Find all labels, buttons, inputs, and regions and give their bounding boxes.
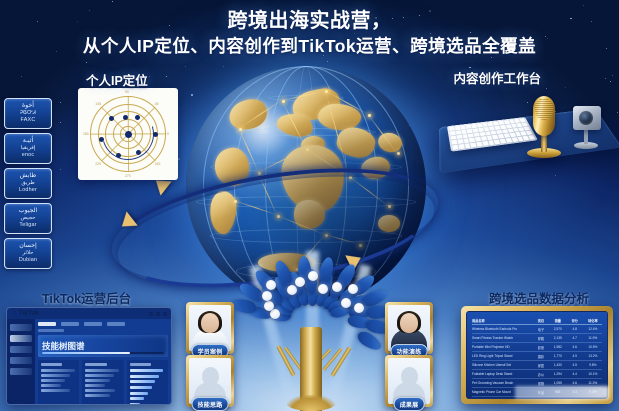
language-badge[interactable]: أخوةᎮᎶᏅᏗFAXC (4, 98, 52, 129)
table-cell: Smart Fitness Tracker Watch (472, 336, 532, 340)
table-cell: 电子 (532, 327, 550, 332)
polar-data-point (116, 153, 121, 158)
card-student-case[interactable]: 学员案例 (186, 302, 234, 354)
row-line (41, 369, 75, 371)
avatar-silhouette-head (202, 367, 219, 386)
tab-1[interactable] (61, 322, 79, 326)
table-cell: Foldable Laptop Desk Stand (472, 372, 532, 376)
table-row[interactable]: Foldable Laptop Desk Stand办公1,2944.410.1… (472, 370, 602, 379)
sidebar-item-1[interactable] (10, 335, 32, 342)
sidebar-item-0[interactable] (10, 324, 32, 331)
poster-canvas: 跨境出海实战营， 从个人IP定位、内容创作到TikTok运营、跨境选品全覆盖 أ… (0, 0, 619, 411)
tiktok-tabs[interactable] (38, 322, 168, 326)
row-line (85, 379, 109, 381)
card-title (130, 363, 151, 366)
column-header: 商品名称 (472, 318, 532, 323)
star (112, 1, 113, 2)
language-badge[interactable]: أثيـةإفريقياenoc (4, 133, 52, 164)
language-badge[interactable]: إحسانحلائرDubian (4, 238, 52, 269)
microphone-grill (535, 98, 553, 120)
camera-stem (584, 130, 588, 144)
language-badge[interactable]: طابشطريقLodher (4, 168, 52, 199)
table-cell: 办公 (532, 372, 550, 377)
polar-axis-label: 270 (125, 174, 131, 178)
globe-network-node (258, 172, 261, 175)
star (149, 76, 150, 77)
sidebar-item-2[interactable] (10, 346, 32, 353)
keyboard-key (458, 144, 464, 149)
tree-fruit (266, 280, 276, 290)
table-cell: 4.4 (566, 372, 584, 376)
tree-fruit (348, 284, 358, 294)
language-badge-line2: ᎮᎶᏅᏗ (20, 110, 36, 117)
tiktok-brand-label: TikTok (18, 310, 39, 317)
table-cell: 11.3% (584, 381, 602, 385)
table-cell: 9.8% (584, 363, 602, 367)
music-note-icon: ♫ (11, 310, 16, 317)
polar-axis-label: 90 (125, 90, 129, 94)
language-badge-line2: حجيص (20, 215, 35, 222)
table-cell: 4.5 (566, 363, 584, 367)
language-badge-line1: أخوة (22, 102, 34, 109)
star (86, 62, 87, 63)
globe-network-node (368, 114, 371, 117)
globe-network-link (239, 100, 283, 130)
globe-landmass (301, 135, 326, 154)
language-badge-line2: طريق (21, 180, 34, 187)
language-badge-line3: enoc (22, 152, 35, 159)
dashboard-card (127, 360, 168, 405)
language-badge-line1: إحسان (19, 242, 37, 249)
table-cell: 4.8 (566, 327, 584, 331)
product-analytics-mockup: 商品名称类目销量评分转化率Wireless Bluetooth Earbuds … (461, 306, 613, 404)
polar-data-point (109, 116, 114, 121)
table-cell: 2,135 (550, 336, 566, 340)
globe-network-node (397, 152, 400, 155)
tree-fruit (295, 277, 305, 287)
tiktok-dashboard-mockup: ♫ TikTok 技能树图谱 (6, 307, 172, 405)
tiktok-banner: 技能树图谱 (38, 335, 168, 357)
globe-network-link (258, 148, 306, 173)
globe-network-node (306, 148, 309, 151)
heading-tiktok-dashboard: TikTok运营后台 (42, 288, 131, 307)
globe-landmass (376, 131, 404, 155)
star (583, 5, 584, 6)
keyboard-key (464, 143, 470, 148)
table-cell: 4.6 (566, 381, 584, 385)
globe-network-node (325, 90, 328, 93)
globe-network-link (238, 129, 258, 173)
star (60, 169, 61, 170)
globe-landmass (289, 85, 342, 123)
sidebar-item-3[interactable] (10, 357, 32, 364)
dashboard-card (38, 360, 79, 405)
keyboard-key (482, 141, 488, 146)
globe-landmass (226, 94, 271, 133)
row-line (85, 374, 114, 376)
table-row[interactable]: Wireless Bluetooth Earbuds Pro电子2,5704.8… (472, 325, 602, 334)
table-row[interactable]: Silicone Kitchen Utensil Set家居1,4304.59.… (472, 361, 602, 370)
table-cell: 2,570 (550, 327, 566, 331)
globe-landmass (317, 103, 362, 133)
language-badge-line1: الجيوب (19, 207, 38, 214)
table-cell: 1,770 (550, 354, 566, 358)
row-line (41, 389, 70, 391)
card-title (41, 363, 62, 366)
table-cell: Wireless Bluetooth Earbuds Pro (472, 327, 532, 331)
globe-network-link (282, 100, 307, 148)
row-line (85, 384, 105, 386)
table-cell: 家居 (532, 363, 550, 368)
polar-data-point (153, 132, 158, 137)
tab-2[interactable] (84, 322, 102, 326)
table-row[interactable]: Portable Mini Projector HD影音1,9824.610.5… (472, 343, 602, 352)
polar-data-point (135, 115, 140, 120)
tiktok-cards (38, 360, 168, 405)
table-cell: 10.5% (584, 345, 602, 349)
tiktok-sidebar[interactable] (7, 319, 35, 404)
table-cell: 1,982 (550, 345, 566, 349)
screen-glare (515, 386, 609, 399)
row-line (41, 384, 61, 386)
polar-axis-label: 180 (83, 132, 89, 136)
tiktok-screen: ♫ TikTok 技能树图谱 (6, 307, 172, 405)
star (178, 108, 179, 109)
card-skill-method[interactable]: 技能思路 (186, 355, 234, 407)
polar-axis-label: 315 (155, 162, 161, 166)
star (617, 112, 618, 113)
table-cell: 穿戴 (532, 336, 550, 341)
tab-0[interactable] (38, 322, 56, 326)
tree-fruit (270, 309, 280, 319)
language-badge-line3: FAXC (21, 117, 36, 124)
row-line (85, 389, 114, 391)
globe-network-link (282, 90, 325, 101)
star (178, 158, 180, 160)
poster-title: 跨境出海实战营， 从个人IP定位、内容创作到TikTok运营、跨境选品全覆盖 (0, 8, 619, 58)
table-cell: 1,055 (550, 381, 566, 385)
tab-3[interactable] (107, 322, 125, 326)
star (21, 76, 22, 77)
dashboard-card (82, 360, 123, 405)
polar-axis-label: 225 (95, 162, 101, 166)
globe-parallel (268, 95, 345, 101)
polar-axis-label: 45 (155, 102, 159, 106)
sidebar-item-4[interactable] (10, 368, 32, 375)
table-cell: 影音 (532, 345, 550, 350)
star (60, 122, 61, 123)
language-badge-line2: إفريقيا (21, 145, 36, 152)
table-cell: Silicone Kitchen Utensil Set (472, 363, 532, 367)
table-row[interactable]: Smart Fitness Tracker Watch穿戴2,1354.711.… (472, 334, 602, 343)
table-cell: Pet Grooming Vacuum Brush (472, 381, 532, 385)
keyboard-key (528, 135, 535, 140)
star (327, 61, 328, 62)
table-cell: 摄影 (532, 354, 550, 359)
heading-content-workbench: 内容创作工作台 (453, 68, 541, 87)
table-cell: 13.2% (584, 354, 602, 358)
column-header: 类目 (532, 318, 550, 323)
globe-network-link (325, 90, 369, 115)
row-line (41, 379, 65, 381)
row-line (85, 369, 119, 371)
tiktok-topbar: ♫ TikTok (7, 308, 171, 319)
heading-product-analytics: 跨境选品数据分析 (489, 288, 589, 307)
table-cell: 10.1% (584, 372, 602, 376)
bar (130, 386, 152, 389)
ip-positioning-chart-card: 90450315270225180135 (78, 88, 178, 180)
table-cell: LED Ring Light Tripod Stand (472, 354, 532, 358)
avatar-silhouette-head (401, 367, 418, 386)
content-workbench-illustration (431, 78, 615, 190)
table-header-row: 商品名称类目销量评分转化率 (472, 316, 602, 325)
bar (130, 397, 144, 400)
polar-data-point (136, 150, 141, 155)
star (60, 102, 61, 103)
table-cell: 11.9% (584, 336, 602, 340)
bar (130, 375, 160, 378)
globe-parallel (236, 128, 375, 136)
tiktok-topbar-icons[interactable] (149, 312, 167, 316)
polar-data-point (123, 115, 128, 120)
table-cell: Portable Mini Projector HD (472, 345, 532, 349)
tiktok-banner-title: 技能树图谱 (42, 340, 85, 352)
table-cell: 12.4% (584, 327, 602, 331)
bar (130, 369, 164, 372)
column-header: 转化率 (584, 318, 602, 323)
tiktok-logo[interactable]: ♫ TikTok (11, 310, 39, 317)
microphone-stem (541, 134, 547, 152)
table-cell: 宠物 (532, 381, 550, 386)
card-feature-drill[interactable]: 功能演练 (385, 302, 433, 354)
globe-landmass (276, 112, 315, 138)
language-badge-line1: أثيـة (23, 137, 33, 144)
language-badge[interactable]: الجيوبحجيصTeligar (4, 203, 52, 234)
avatar-face (400, 313, 418, 333)
globe-landmass (335, 125, 379, 161)
language-badge-line3: Lodher (19, 187, 37, 194)
skill-tree-illustration (236, 258, 386, 411)
breadcrumb (38, 329, 64, 332)
title-line-1: 跨境出海实战营， (0, 8, 619, 34)
row-line (85, 394, 110, 396)
globe-network-link (325, 90, 350, 177)
gear-icon[interactable] (156, 312, 160, 316)
star (166, 76, 167, 77)
tiktok-main-panel: 技能树图谱 (35, 319, 171, 404)
globe-network-node (239, 128, 242, 131)
card-results[interactable]: 成果展 (385, 355, 433, 407)
table-cell: 4.6 (566, 345, 584, 349)
search-icon[interactable] (149, 312, 153, 316)
avatar[interactable] (163, 312, 167, 316)
column-header: 评分 (566, 318, 584, 323)
card-label: 技能思路 (192, 397, 229, 411)
polar-axis-label: 0 (167, 132, 169, 136)
card-label: 成果展 (394, 397, 425, 411)
table-cell: 1,430 (550, 363, 566, 367)
table-cell: 4.9 (566, 354, 584, 358)
language-badge-line3: Teligar (19, 222, 36, 229)
table-row[interactable]: LED Ring Light Tripod Stand摄影1,7704.913.… (472, 352, 602, 361)
tree-leaf (317, 256, 335, 284)
table-cell: 4.7 (566, 336, 584, 340)
row-line (41, 374, 70, 376)
tiktok-body: 技能树图谱 (7, 319, 171, 404)
bar (130, 380, 156, 383)
camera-lens (579, 111, 593, 125)
card-title (85, 363, 106, 366)
language-badge-line3: Dubian (19, 257, 37, 264)
bar (130, 403, 140, 405)
star (612, 75, 613, 76)
language-badge-line2: حلائر (22, 250, 33, 257)
title-line-2: 从个人IP定位、内容创作到TikTok运营、跨境选品全覆盖 (0, 34, 619, 58)
table-cell: 1,294 (550, 372, 566, 376)
tree-trunk (300, 327, 322, 411)
polar-data-point (125, 131, 132, 138)
polar-axis-label: 135 (95, 102, 101, 106)
tree-fruit (354, 303, 364, 313)
language-badge-column: أخوةᎮᎶᏅᏗFAXCأثيـةإفريقياenocطابشطريقLodh… (4, 98, 56, 273)
language-badge-line1: طابش (20, 172, 36, 179)
avatar-face (201, 313, 219, 333)
heading-ip-positioning: 个人IP定位 (86, 70, 148, 89)
globe-network-node (282, 100, 285, 103)
keyboard-key (452, 145, 458, 150)
progress-bar[interactable] (42, 352, 164, 354)
bar (130, 392, 148, 395)
tree-fruit (287, 285, 297, 295)
globe-network-link (368, 114, 398, 153)
column-header: 销量 (550, 318, 566, 323)
